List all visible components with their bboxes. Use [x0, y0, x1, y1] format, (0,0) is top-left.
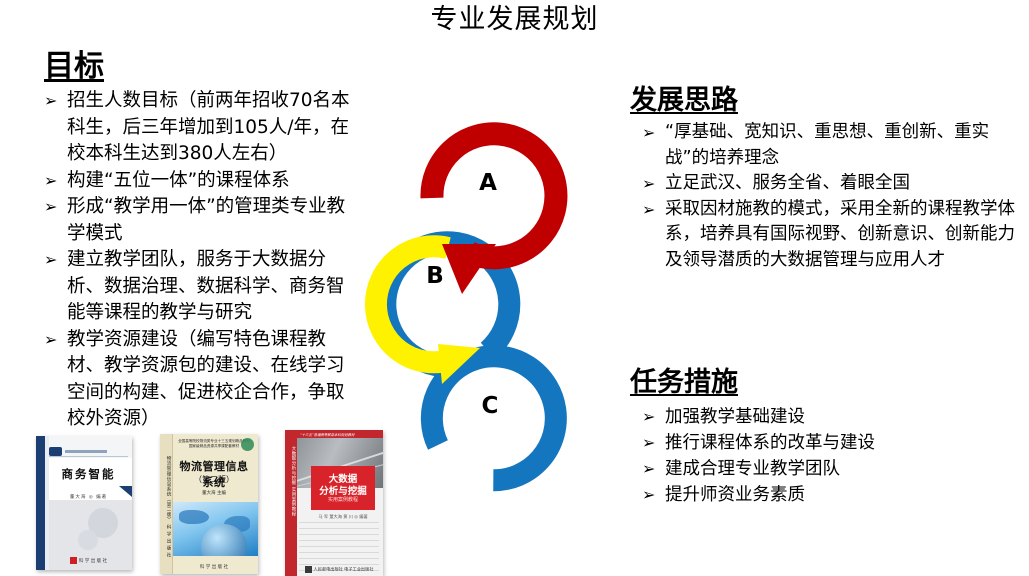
list-item: ➢提升师资业务素质: [642, 482, 1026, 508]
list-item: ➢形成“教学用一体”的管理类专业教学模式: [44, 194, 362, 247]
book-title: 商务智能: [49, 466, 128, 482]
bullet-triangle-icon: ➢: [44, 327, 57, 354]
book-spine: 大数据分析与挖掘 实用案例教程: [285, 430, 297, 576]
bullet-triangle-icon: ➢: [642, 482, 655, 508]
book-spine: 物流管理信息系统（第二版） 科 学 出 版 社: [160, 434, 173, 574]
list-item: ➢构建“五位一体”的课程体系: [44, 168, 362, 195]
book-title-line2: 分析与挖掘: [311, 483, 375, 497]
corner-accent: [119, 486, 132, 497]
bullet-triangle-icon: ➢: [44, 168, 57, 195]
stage-b-label: B: [415, 263, 455, 289]
list-item: ➢建立教学团队，服务于大数据分析、数据治理、数据科学、商务智能等课程的教学与研究: [44, 247, 362, 327]
list-item: ➢招生人数目标（前两年招收70名本科生，后三年增加到105人/年，在校本科生达到…: [44, 88, 362, 168]
stage-c-label: C: [470, 393, 510, 419]
book-edition: （第二版）: [174, 474, 254, 485]
divider: [49, 456, 128, 457]
task-measures-heading: 任务措施: [630, 365, 1026, 400]
list-item: ➢教学资源建设（编写特色课程教材、教学资源包的建设、在线学习空间的构建、促进校企…: [44, 327, 362, 433]
list-item: ➢推行课程体系的改革与建设: [642, 430, 1026, 456]
book-series-bar: [49, 441, 128, 454]
goal-section: 目标 ➢招生人数目标（前两年招收70名本科生，后三年增加到105人/年，在校本科…: [44, 48, 362, 433]
book-author: 董大海 主编: [174, 490, 254, 496]
book-cover-logistics-mis: 物流管理信息系统（第二版） 科 学 出 版 社 全国高等院校物流类专业十三五规划…: [160, 434, 258, 574]
bullet-triangle-icon: ➢: [642, 120, 655, 146]
bullet-triangle-icon: ➢: [44, 88, 57, 115]
book-spine: [36, 436, 45, 570]
award-seal-icon: [241, 438, 254, 451]
book-spine-text: 物流管理信息系统（第二版） 科 学 出 版 社: [161, 456, 171, 558]
publisher-mark-icon: [305, 566, 312, 573]
book-series-band: “十三五”普通高等教育本科规划教材: [297, 430, 383, 438]
book-publisher: 科 学 出 版 社: [49, 557, 128, 564]
series-text: “十三五”普通高等教育本科规划教材: [300, 432, 354, 437]
bullet-triangle-icon: ➢: [642, 456, 655, 482]
bullet-triangle-icon: ➢: [44, 247, 57, 274]
cover-text-lines: [299, 522, 379, 560]
list-item: ➢加强教学基础建设: [642, 404, 1026, 430]
list-item: ➢立足武汉、服务全省、着眼全国: [642, 171, 1026, 197]
list-item: ➢采取因材施教的模式，采用全新的课程教学体系，培养具有国际视野、创新意识、创新能…: [642, 197, 1026, 274]
goal-heading: 目标: [44, 48, 362, 86]
bullet-triangle-icon: ➢: [642, 404, 655, 430]
book-subtitle: 实用案例教程: [311, 496, 375, 503]
bullet-triangle-icon: ➢: [642, 171, 655, 197]
development-idea-section: 发展思路 ➢“厚基础、宽知识、重思想、重创新、重实战”的培养理念 ➢立足武汉、服…: [630, 83, 1026, 273]
task-measures-list: ➢加强教学基础建设 ➢推行课程体系的改革与建设 ➢建成合理专业教学团队 ➢提升师…: [642, 404, 1026, 508]
goal-list: ➢招生人数目标（前两年招收70名本科生，后三年增加到105人/年，在校本科生达到…: [44, 88, 362, 433]
development-idea-heading: 发展思路: [630, 83, 1026, 118]
task-measures-section: 任务措施 ➢加强教学基础建设 ➢推行课程体系的改革与建设 ➢建成合理专业教学团队…: [630, 365, 1026, 508]
stage-a-label: A: [468, 170, 508, 196]
bullet-triangle-icon: ➢: [642, 430, 655, 456]
book-publisher: 人民邮电出版社 电子工业出版社: [299, 566, 379, 573]
title-box: 大数据 分析与挖掘 实用案例教程: [311, 466, 375, 510]
development-idea-list: ➢“厚基础、宽知识、重思想、重创新、重实战”的培养理念 ➢立足武汉、服务全省、着…: [642, 120, 1026, 273]
slide-root: 专业发展规划 目标 ➢招生人数目标（前两年招收70名本科生，后三年增加到105人…: [0, 0, 1029, 576]
series-text-line: [65, 450, 107, 453]
book-cover-big-data-analysis: 大数据分析与挖掘 实用案例教程 “十三五”普通高等教育本科规划教材 大数据 分析…: [285, 430, 383, 576]
book-spine-text: 大数据分析与挖掘 实用案例教程: [287, 446, 296, 517]
bullet-triangle-icon: ➢: [44, 194, 57, 221]
continent-shape: [179, 510, 209, 524]
bullet-triangle-icon: ➢: [642, 197, 655, 223]
gear-icon: [78, 530, 98, 550]
list-item: ➢“厚基础、宽知识、重思想、重创新、重实战”的培养理念: [642, 120, 1026, 171]
globe-graphic: [173, 502, 258, 556]
list-item: ➢建成合理专业教学团队: [642, 456, 1026, 482]
publisher-logo-icon: [49, 447, 62, 456]
book-publisher: 科 学 出 版 社: [174, 564, 254, 570]
book-cover-business-intelligence: 商务智能 董大海 ◎ 编著 科 学 出 版 社: [36, 436, 132, 570]
page-title: 专业发展规划: [0, 3, 1029, 37]
textbook-images: 商务智能 董大海 ◎ 编著 科 学 出 版 社 物流管理信息系统（第二版） 科 …: [30, 428, 420, 576]
book-author: 马 军 董大海 黄 川 ◎ 编著: [311, 514, 375, 520]
publisher-mark-icon: [70, 557, 77, 564]
